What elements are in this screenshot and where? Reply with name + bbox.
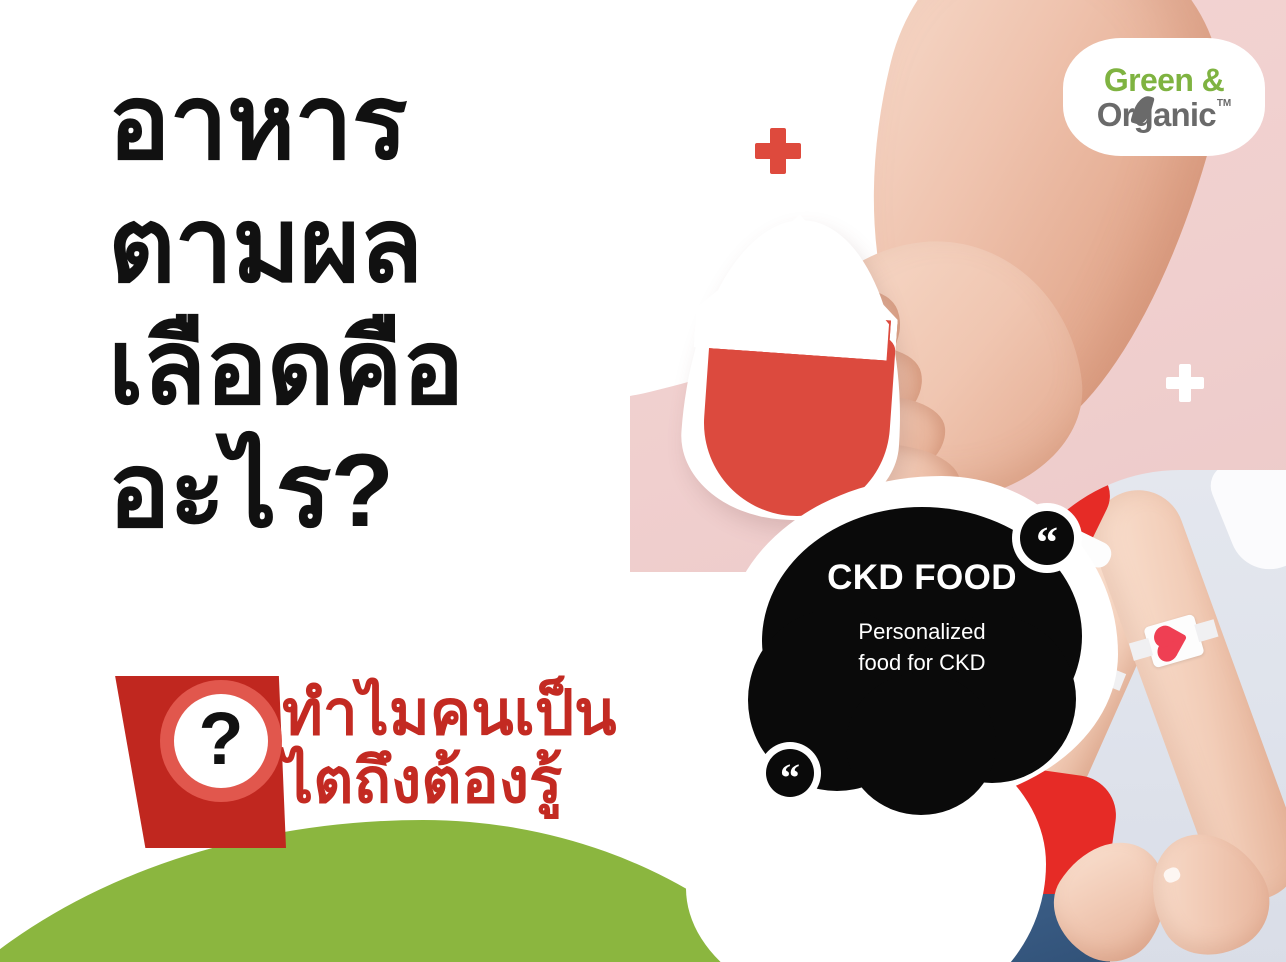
- sub-headline: ทำไมคนเป็น ไตถึงต้องรู้: [282, 680, 617, 816]
- headline-line-1: อาหาร: [108, 62, 668, 185]
- question-mark-badge: ?: [108, 672, 296, 850]
- logo-line-gray-wrap: Organic TM: [1097, 98, 1232, 131]
- bubble-subtitle: Personalized food for CKD: [762, 616, 1082, 680]
- medical-cross-icon-red: [755, 128, 801, 174]
- headline-line-4: อะไร?: [108, 430, 668, 553]
- bubble-title: CKD FOOD: [762, 559, 1082, 598]
- white-sleeve: [1204, 470, 1286, 581]
- sub-headline-line-1: ทำไมคนเป็น: [282, 680, 617, 748]
- brand-logo-badge: Green & Organic TM: [1063, 38, 1265, 156]
- cross-bar-horizontal: [1166, 377, 1204, 390]
- logo-line-gray: Organic: [1097, 98, 1216, 131]
- ckd-food-bubble: CKD FOOD Personalized food for CKD “ “: [748, 497, 1098, 809]
- poster-canvas: CKD FOOD Personalized food for CKD “ “ G…: [0, 0, 1286, 962]
- page-title: อาหาร ตามผล เลือดคือ อะไร?: [108, 62, 668, 553]
- bubble-shape-lobe: [846, 673, 996, 815]
- quote-mark-icon-top-right: “: [1020, 511, 1074, 565]
- question-badge-inner: ?: [174, 694, 268, 788]
- quote-mark-icon-bottom-left: “: [766, 749, 814, 797]
- medical-cross-icon-white: [1166, 364, 1204, 402]
- question-mark-icon: ?: [198, 702, 243, 776]
- trademark-mark: TM: [1217, 98, 1231, 109]
- question-badge-ring: ?: [160, 680, 282, 802]
- cross-bar-horizontal: [755, 143, 801, 159]
- bubble-text-block: CKD FOOD Personalized food for CKD: [762, 559, 1082, 679]
- bubble-subtitle-line-1: Personalized: [762, 616, 1082, 648]
- logo-line-green: Green &: [1104, 64, 1224, 96]
- bubble-subtitle-line-2: food for CKD: [762, 647, 1082, 679]
- headline-line-3: เลือดคือ: [108, 307, 668, 430]
- heart-icon: [1159, 627, 1187, 656]
- sub-headline-line-2: ไตถึงต้องรู้: [282, 748, 617, 816]
- headline-line-2: ตามผล: [108, 185, 668, 308]
